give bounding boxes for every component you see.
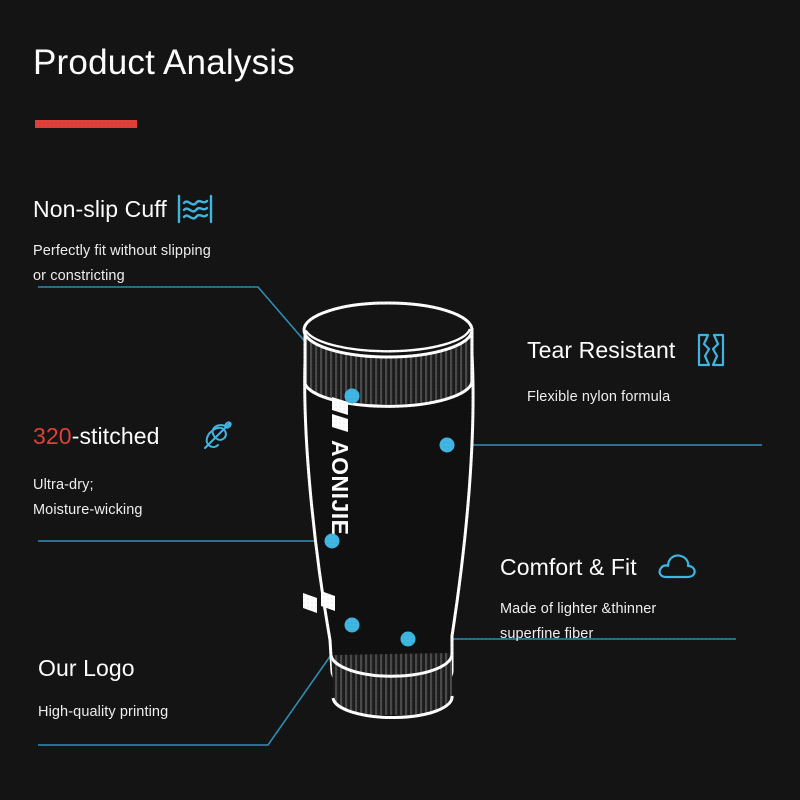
tear-icon xyxy=(696,333,726,367)
callout-320-stitched: 320-stitched Ultra-dry; Moisture-wicking xyxy=(33,418,237,523)
title-underline-rule xyxy=(35,120,137,128)
needle-thread-icon xyxy=(199,418,237,454)
callout-head: Tear Resistant xyxy=(527,333,726,367)
callout-title: Tear Resistant xyxy=(527,337,675,364)
callout-title: Comfort & Fit xyxy=(500,554,637,581)
callout-our-logo: Our Logo High-quality printing xyxy=(38,655,168,725)
dot-320-stitched xyxy=(325,534,340,549)
dot-tear-resistant xyxy=(440,438,455,453)
callout-title: 320-stitched xyxy=(33,423,160,450)
callout-tear-resistant: Tear Resistant Flexible nylon formula xyxy=(527,333,726,410)
callout-description: Ultra-dry; Moisture-wicking xyxy=(33,473,237,523)
calf-sleeve: AONIJIE xyxy=(295,303,485,718)
callout-non-slip-cuff: Non-slip Cuff Perfectly fit without slip… xyxy=(33,193,214,289)
callout-head: 320-stitched xyxy=(33,418,237,454)
callout-description: Flexible nylon formula xyxy=(527,385,726,410)
callout-description: Made of lighter &thinner superfine fiber xyxy=(500,597,698,647)
brand-text: AONIJIE xyxy=(327,440,353,536)
cloud-icon xyxy=(656,552,698,582)
page-title: Product Analysis xyxy=(33,44,295,83)
callout-comfort-fit: Comfort & Fit Made of lighter &thinner s… xyxy=(500,552,698,647)
callout-head: Comfort & Fit xyxy=(500,552,698,582)
dot-comfort-fit xyxy=(401,632,416,647)
dot-non-slip-cuff xyxy=(345,389,360,404)
callout-description: Perfectly fit without slipping or constr… xyxy=(33,239,214,289)
callout-head: Our Logo xyxy=(38,655,168,682)
stitch-suffix: -stitched xyxy=(72,423,160,449)
product-analysis-infographic: AONIJIE Product Analysis Non-slip Cuff xyxy=(0,0,800,800)
wavy-lines-icon xyxy=(176,193,214,225)
callout-title: Non-slip Cuff xyxy=(33,196,167,223)
callout-description: High-quality printing xyxy=(38,700,168,725)
dot-our-logo xyxy=(345,618,360,633)
callout-head: Non-slip Cuff xyxy=(33,193,214,225)
stitch-count: 320 xyxy=(33,423,72,449)
callout-title: Our Logo xyxy=(38,655,135,682)
